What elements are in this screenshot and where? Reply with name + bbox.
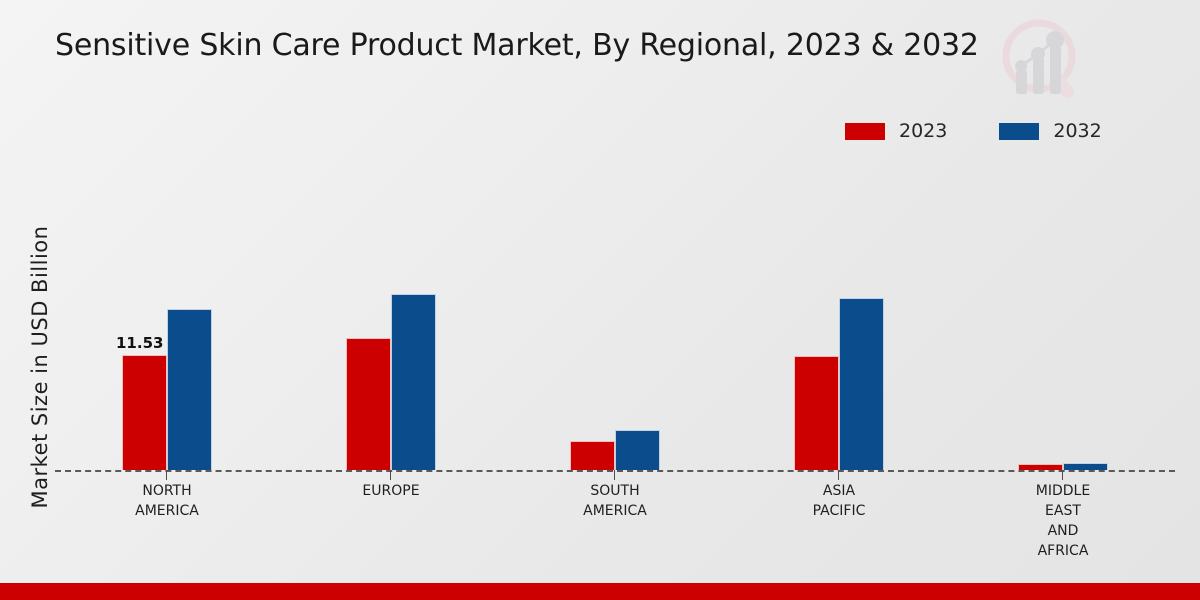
brand-watermark-logo	[995, 8, 1095, 108]
chart-legend: 2023 2032	[845, 120, 1102, 142]
bar-2032[interactable]	[615, 430, 660, 470]
bar-group: ASIAPACIFIC	[727, 180, 951, 470]
bar-group: EUROPE	[279, 180, 503, 470]
y-axis-title: Market Size in USD Billion	[28, 172, 52, 562]
x-axis-category-label: EUROPE	[362, 482, 419, 502]
bar-value-label: 11.53	[116, 334, 163, 352]
bar-group: MIDDLEEASTANDAFRICA	[951, 180, 1175, 470]
legend-swatch-2032	[999, 123, 1039, 140]
x-axis-category-label: MIDDLEEASTANDAFRICA	[1036, 482, 1090, 562]
legend-swatch-2023	[845, 123, 885, 140]
legend-item-2032[interactable]: 2032	[999, 120, 1101, 142]
bar-2032[interactable]	[167, 309, 212, 470]
bar-2032[interactable]	[839, 298, 884, 471]
baseline-axis	[55, 470, 1175, 472]
bar-2023[interactable]	[1018, 464, 1063, 470]
bar-group: SOUTHAMERICA	[503, 180, 727, 470]
legend-item-2023[interactable]: 2023	[845, 120, 947, 142]
x-axis-category-label: ASIAPACIFIC	[813, 482, 866, 522]
bar-2032[interactable]	[391, 294, 436, 471]
axis-tick	[166, 470, 167, 480]
bar-2032[interactable]	[1063, 463, 1108, 470]
bar-group: 11.53NORTHAMERICA	[55, 180, 279, 470]
legend-label-2032: 2032	[1053, 120, 1101, 142]
axis-tick	[390, 470, 391, 480]
axis-tick	[1062, 470, 1063, 480]
x-axis-category-label: NORTHAMERICA	[135, 482, 199, 522]
bar-2023[interactable]	[122, 355, 167, 470]
axis-tick	[838, 470, 839, 480]
bar-2023[interactable]	[794, 356, 839, 470]
plot-area: 11.53NORTHAMERICAEUROPESOUTHAMERICAASIAP…	[55, 180, 1175, 470]
legend-label-2023: 2023	[899, 120, 947, 142]
chart-title: Sensitive Skin Care Product Market, By R…	[55, 28, 979, 63]
bar-2023[interactable]	[570, 441, 615, 470]
axis-tick	[614, 470, 615, 480]
x-axis-category-label: SOUTHAMERICA	[583, 482, 647, 522]
bar-2023[interactable]	[346, 338, 391, 470]
footer-accent-bar	[0, 583, 1200, 600]
